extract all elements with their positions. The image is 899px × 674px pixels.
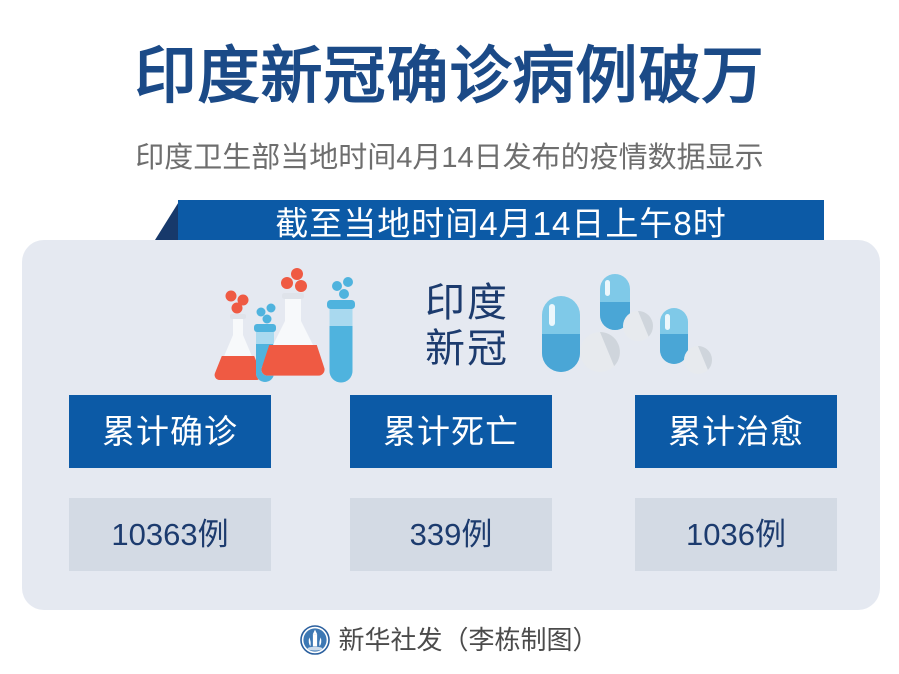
stat-value-recovered: 1036例 (635, 498, 837, 571)
stat-value-deaths: 339例 (350, 498, 552, 571)
xinhua-logo-icon (300, 625, 330, 655)
stat-label-recovered: 累计治愈 (635, 395, 837, 468)
center-label-line2: 新冠 (402, 326, 532, 372)
stat-value-confirmed: 10363例 (69, 498, 271, 571)
illustration-row: 印度 新冠 (22, 262, 880, 394)
infographic-root: 印度新冠确诊病例破万 印度卫生部当地时间4月14日发布的疫情数据显示 截至当地时… (0, 0, 899, 674)
page-subtitle: 印度卫生部当地时间4月14日发布的疫情数据显示 (0, 140, 899, 176)
lab-flasks-icon (197, 262, 372, 394)
stat-label-deaths: 累计死亡 (350, 395, 552, 468)
stats-row: 累计确诊 10363例 累计死亡 339例 累计治愈 1036例 (22, 395, 880, 587)
stat-column-confirmed: 累计确诊 10363例 (69, 395, 271, 571)
footer-credit-text: 新华社发（李栋制图） (338, 625, 598, 655)
page-title: 印度新冠确诊病例破万 (0, 42, 899, 112)
illustration-center-label: 印度 新冠 (402, 280, 532, 372)
stat-column-recovered: 累计治愈 1036例 (635, 395, 837, 571)
stat-label-confirmed: 累计确诊 (69, 395, 271, 468)
stat-column-deaths: 累计死亡 339例 (350, 395, 552, 571)
pills-capsules-icon (522, 268, 722, 390)
main-panel: 印度 新冠 (22, 240, 880, 610)
center-label-line1: 印度 (402, 280, 532, 326)
footer-credit: 新华社发（李栋制图） (0, 620, 899, 660)
